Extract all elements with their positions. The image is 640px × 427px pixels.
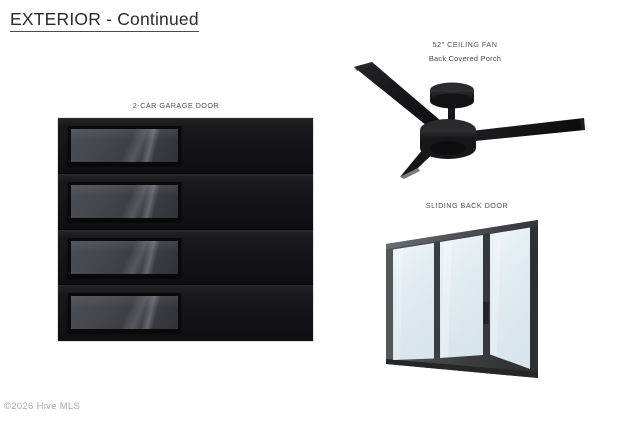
garage-door-window <box>68 293 181 332</box>
garage-door-panel <box>58 285 313 341</box>
fan-motor-housing <box>420 119 476 159</box>
page-title: EXTERIOR - Continued <box>10 9 199 32</box>
garage-door-image <box>58 118 313 341</box>
ceiling-fan-svg <box>336 58 596 180</box>
sliding-door-mullion <box>483 234 490 355</box>
garage-door-panel <box>58 230 313 286</box>
ceiling-fan-image <box>336 58 596 180</box>
sliding-door-mullion <box>434 242 440 359</box>
sliding-door-handle[interactable] <box>484 302 489 324</box>
garage-door-caption: 2-CAR GARAGE DOOR <box>86 101 266 110</box>
garage-door-panel <box>58 174 313 230</box>
garage-door-window <box>68 126 181 165</box>
fan-blade-right <box>462 118 585 142</box>
garage-window-glass <box>71 241 178 274</box>
garage-window-glass <box>71 296 178 329</box>
copyright-watermark: ©2026 Hive MLS <box>4 401 80 412</box>
sliding-door-svg <box>378 214 546 396</box>
ceiling-fan-caption: 52" CEILING FAN <box>390 40 540 49</box>
garage-door-panel <box>58 118 313 174</box>
garage-window-glass <box>71 185 178 218</box>
sliding-door-caption: SLIDING BACK DOOR <box>397 201 537 210</box>
garage-door-window <box>68 238 181 277</box>
garage-door-window <box>68 182 181 221</box>
sliding-door-image <box>378 214 546 396</box>
document-page: EXTERIOR - Continued 2-CAR GARAGE DOOR 5… <box>0 0 640 427</box>
garage-window-glass <box>71 129 178 162</box>
fan-canopy <box>430 83 474 109</box>
